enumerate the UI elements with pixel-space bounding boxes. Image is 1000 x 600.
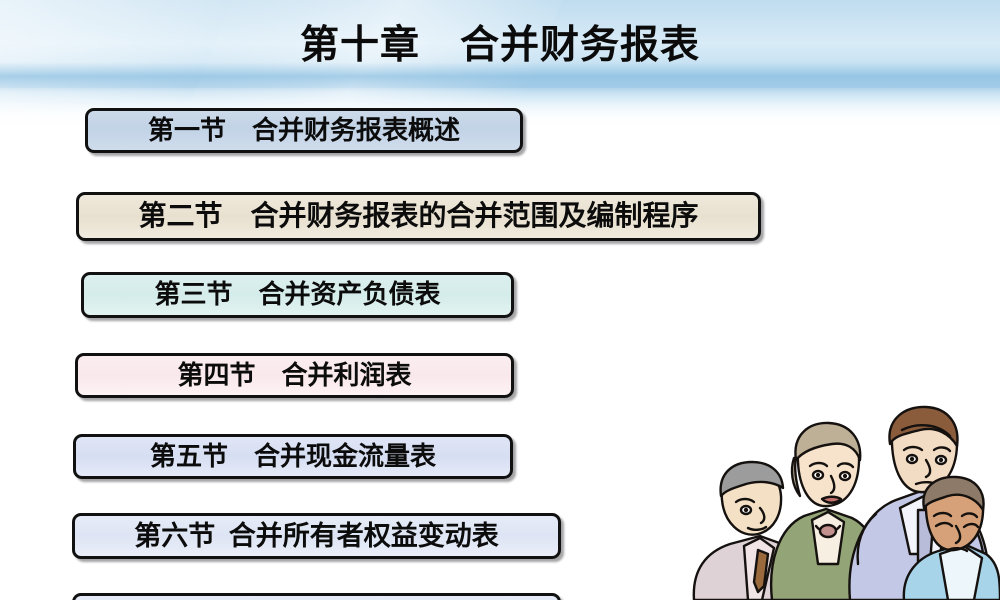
section-label-3: 第三节 合并资产负债表 xyxy=(154,282,440,308)
section-item-6[interactable]: 第六节 合并所有者权益变动表 xyxy=(72,513,561,559)
person-center-pupil-left xyxy=(910,457,914,461)
person-woman-lips xyxy=(822,497,841,503)
section-item-4[interactable]: 第四节 合并利润表 xyxy=(75,353,514,398)
section-item-1[interactable]: 第一节 合并财务报表概述 xyxy=(85,108,523,153)
person-woman-pupil-right xyxy=(843,474,847,478)
person-woman-pupil-left xyxy=(816,473,820,477)
section-label-1: 第一节 合并财务报表概述 xyxy=(148,118,460,144)
section-label-4: 第四节 合并利润表 xyxy=(177,363,411,389)
section-item-3[interactable]: 第三节 合并资产负债表 xyxy=(81,272,514,318)
section-label-5: 第五节 合并现金流量表 xyxy=(150,444,436,470)
section-label-6: 第六节 合并所有者权益变动表 xyxy=(134,523,499,550)
section-label-2: 第二节 合并财务报表的合并范围及编制程序 xyxy=(138,203,698,231)
person-woman-necklace xyxy=(820,525,836,537)
section-item-7-partial[interactable] xyxy=(72,593,561,600)
section-item-2[interactable]: 第二节 合并财务报表的合并范围及编制程序 xyxy=(76,192,761,241)
page-title: 第十章 合并财务报表 xyxy=(0,23,1000,69)
business-people-illustration xyxy=(686,404,1000,600)
person-center-pupil-right xyxy=(939,458,943,462)
section-item-5[interactable]: 第五节 合并现金流量表 xyxy=(73,434,513,479)
person-right-shirt xyxy=(940,546,982,600)
person-left-pupil xyxy=(744,508,748,512)
slide-canvas: 第十章 合并财务报表 第一节 合并财务报表概述 第二节 合并财务报表的合并范围及… xyxy=(0,0,1000,600)
